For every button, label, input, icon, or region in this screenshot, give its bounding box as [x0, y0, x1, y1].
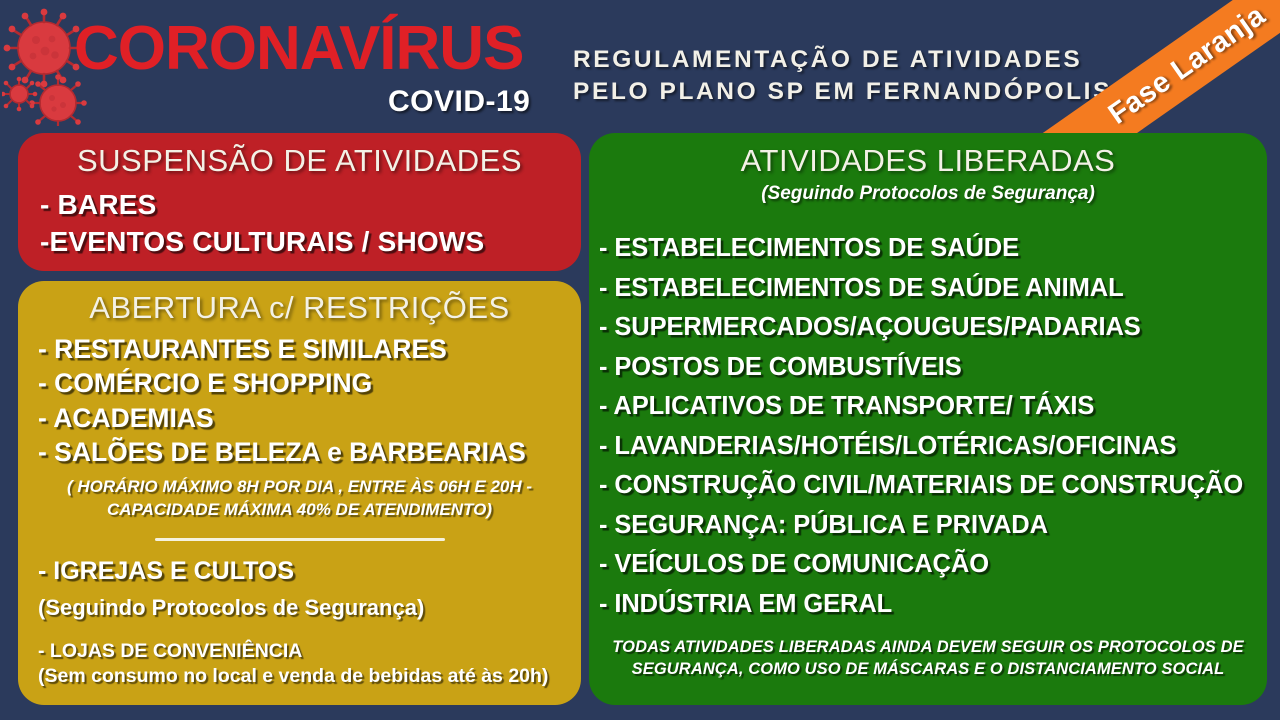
restricted-extra-list: - IGREJAS E CULTOS (Seguindo Protocolos … [38, 555, 581, 690]
released-activity-list: - ESTABELECIMENTOS DE SAÚDE - ESTABELECI… [599, 229, 1267, 624]
list-item: -EVENTOS CULTURAIS / SHOWS [40, 224, 581, 261]
list-item: - SALÕES DE BELEZA e BARBEARIAS [38, 435, 581, 469]
page-header: CORONAVÍRUS COVID-19 REGULAMENTAÇÃO DE A… [0, 0, 1280, 128]
restricted-schedule-note-line-2: CAPACIDADE MÁXIMA 40% DE ATENDIMENTO) [32, 499, 567, 522]
list-item: - COMÉRCIO E SHOPPING [38, 366, 581, 400]
page-heading-line-1: REGULAMENTAÇÃO DE ATIVIDADES [573, 44, 1173, 76]
section-divider [155, 538, 445, 541]
list-item: - VEÍCULOS DE COMUNICAÇÃO [599, 545, 1267, 585]
list-item: - CONSTRUÇÃO CIVIL/MATERIAIS DE CONSTRUÇ… [599, 466, 1267, 506]
list-item: - LOJAS DE CONVENIÊNCIA [38, 639, 581, 664]
list-item-note: (Seguindo Protocolos de Segurança) [38, 594, 581, 623]
panel-restricted-opening: ABERTURA c/ RESTRIÇÕES - RESTAURANTES E … [18, 281, 581, 705]
released-footer-line-2: SEGURANÇA, COMO USO DE MÁSCARAS E O DIST… [597, 658, 1259, 680]
panel-suspended-title: SUSPENSÃO DE ATIVIDADES [18, 143, 581, 179]
restricted-activity-list: - RESTAURANTES E SIMILARES - COMÉRCIO E … [38, 332, 581, 470]
restricted-schedule-note-line-1: ( HORÁRIO MÁXIMO 8H POR DIA , ENTRE ÀS 0… [32, 476, 567, 499]
panel-released-subtitle: (Seguindo Protocolos de Segurança) [589, 183, 1267, 205]
brand-subtitle: COVID-19 [388, 85, 530, 119]
page-heading-line-2: PELO PLANO SP EM FERNANDÓPOLIS [573, 76, 1173, 108]
released-footer-note: TODAS ATIVIDADES LIBERADAS AINDA DEVEM S… [597, 636, 1259, 681]
list-item: - SUPERMERCADOS/AÇOUGUES/PADARIAS [599, 308, 1267, 348]
list-item: - LAVANDERIAS/HOTÉIS/LOTÉRICAS/OFICINAS [599, 427, 1267, 467]
suspended-activity-list: - BARES -EVENTOS CULTURAIS / SHOWS [40, 187, 581, 261]
list-item: - BARES [40, 187, 581, 224]
restricted-schedule-note: ( HORÁRIO MÁXIMO 8H POR DIA , ENTRE ÀS 0… [32, 476, 567, 522]
page-heading: REGULAMENTAÇÃO DE ATIVIDADES PELO PLANO … [573, 44, 1173, 108]
list-item: - ESTABELECIMENTOS DE SAÚDE ANIMAL [599, 269, 1267, 309]
released-footer-line-1: TODAS ATIVIDADES LIBERADAS AINDA DEVEM S… [597, 636, 1259, 658]
list-item: - POSTOS DE COMBUSTÍVEIS [599, 348, 1267, 388]
list-item-note: (Sem consumo no local e venda de bebidas… [38, 664, 581, 689]
list-item: - ACADEMIAS [38, 401, 581, 435]
list-item: - RESTAURANTES E SIMILARES [38, 332, 581, 366]
list-item: - APLICATIVOS DE TRANSPORTE/ TÁXIS [599, 387, 1267, 427]
list-item: - INDÚSTRIA EM GERAL [599, 585, 1267, 625]
panel-restricted-title: ABERTURA c/ RESTRIÇÕES [18, 290, 581, 326]
panel-released-title: ATIVIDADES LIBERADAS [589, 143, 1267, 179]
list-item: - ESTABELECIMENTOS DE SAÚDE [599, 229, 1267, 269]
list-item: - IGREJAS E CULTOS [38, 555, 581, 588]
list-item: - SEGURANÇA: PÚBLICA E PRIVADA [599, 506, 1267, 546]
brand-title: CORONAVÍRUS [74, 18, 523, 80]
panel-suspended-activities: SUSPENSÃO DE ATIVIDADES - BARES -EVENTOS… [18, 133, 581, 271]
panel-released-activities: ATIVIDADES LIBERADAS (Seguindo Protocolo… [589, 133, 1267, 705]
